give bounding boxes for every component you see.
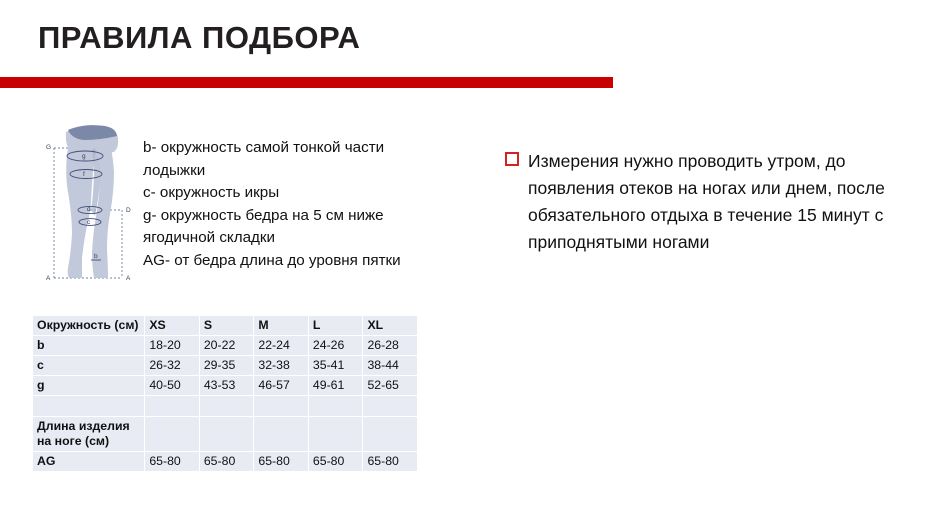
cell-ag-xl: 65-80 [363, 452, 417, 472]
legend-line-b: b- окружность самой тонкой части лодыжки [143, 137, 438, 182]
cell-b-l: 24-26 [308, 336, 363, 356]
table-header-measure: Окружность (см) [33, 316, 145, 336]
cell-g-s: 43-53 [199, 376, 254, 396]
title-underline-rule [0, 77, 613, 88]
section-header-label: Длина изделия на ноге (см) [33, 417, 145, 452]
cell-b-m: 22-24 [254, 336, 309, 356]
cell-b-s: 20-22 [199, 336, 254, 356]
table-section-header-row: Длина изделия на ноге (см) [33, 417, 417, 452]
cell-c-s: 29-35 [199, 356, 254, 376]
table-row: g 40-50 43-53 46-57 49-61 52-65 [33, 376, 417, 396]
table-header-xs: XS [145, 316, 200, 336]
section-header-cell-xs [145, 417, 200, 452]
cell-g-xs: 40-50 [145, 376, 200, 396]
advice-bullet-block: Измерения нужно проводить утром, до появ… [505, 148, 913, 256]
cell-c-m: 32-38 [254, 356, 309, 376]
page-title: ПРАВИЛА ПОДБОРА [38, 20, 360, 56]
table-header-l: L [308, 316, 363, 336]
cell-g-l: 49-61 [308, 376, 363, 396]
row-label-g: g [33, 376, 145, 396]
legend-line-ag: AG- от бедра длина до уровня пятки [143, 250, 438, 273]
table-row: b 18-20 20-22 22-24 24-26 26-28 [33, 336, 417, 356]
table-spacer-row [33, 396, 417, 417]
cell-b-xs: 18-20 [145, 336, 200, 356]
table-header-m: M [254, 316, 309, 336]
cell-g-m: 46-57 [254, 376, 309, 396]
spacer-cell-l [308, 396, 363, 417]
section-header-line2: на ноге (см) [37, 434, 109, 448]
table-row: AG 65-80 65-80 65-80 65-80 65-80 [33, 452, 417, 472]
legend-line-c: c- окружность икры [143, 182, 438, 205]
spacer-cell-label [33, 396, 145, 417]
table-row: c 26-32 29-35 32-38 35-41 38-44 [33, 356, 417, 376]
cell-ag-xs: 65-80 [145, 452, 200, 472]
measurement-legend: b- окружность самой тонкой части лодыжки… [143, 137, 438, 272]
row-label-b: b [33, 336, 145, 356]
cell-g-xl: 52-65 [363, 376, 417, 396]
cell-c-xl: 38-44 [363, 356, 417, 376]
spacer-cell-xs [145, 396, 200, 417]
cell-ag-m: 65-80 [254, 452, 309, 472]
diagram-label-g: g [82, 153, 86, 160]
diagram-label-G: G [46, 144, 51, 151]
table-header-xl: XL [363, 316, 417, 336]
spacer-cell-m [254, 396, 309, 417]
cell-ag-l: 65-80 [308, 452, 363, 472]
table-header-row: Окружность (см) XS S M L XL [33, 316, 417, 336]
spacer-cell-xl [363, 396, 417, 417]
cell-c-xs: 26-32 [145, 356, 200, 376]
advice-text: Измерения нужно проводить утром, до появ… [528, 148, 913, 256]
diagram-label-b: b [94, 253, 98, 260]
row-label-c: c [33, 356, 145, 376]
diagram-label-D: D [126, 207, 131, 214]
cell-ag-s: 65-80 [199, 452, 254, 472]
diagram-label-d: d [87, 206, 91, 213]
diagram-label-A-left: A [46, 275, 51, 282]
spacer-cell-s [199, 396, 254, 417]
table-header-s: S [199, 316, 254, 336]
diagram-label-f: f [83, 171, 85, 178]
diagram-label-A-right: A [126, 275, 131, 282]
section-header-cell-xl [363, 417, 417, 452]
section-header-cell-m [254, 417, 309, 452]
size-chart-table: Окружность (см) XS S M L XL b 18-20 20-2… [33, 316, 417, 472]
leg-measurement-diagram: G g f d D c b A A [38, 118, 156, 290]
section-header-cell-l [308, 417, 363, 452]
cell-c-l: 35-41 [308, 356, 363, 376]
legend-line-g: g- окружность бедра на 5 см ниже ягодичн… [143, 205, 438, 250]
section-header-line1: Длина изделия [37, 419, 130, 433]
section-header-cell-s [199, 417, 254, 452]
row-label-ag: AG [33, 452, 145, 472]
red-square-bullet-icon [505, 152, 519, 166]
cell-b-xl: 26-28 [363, 336, 417, 356]
